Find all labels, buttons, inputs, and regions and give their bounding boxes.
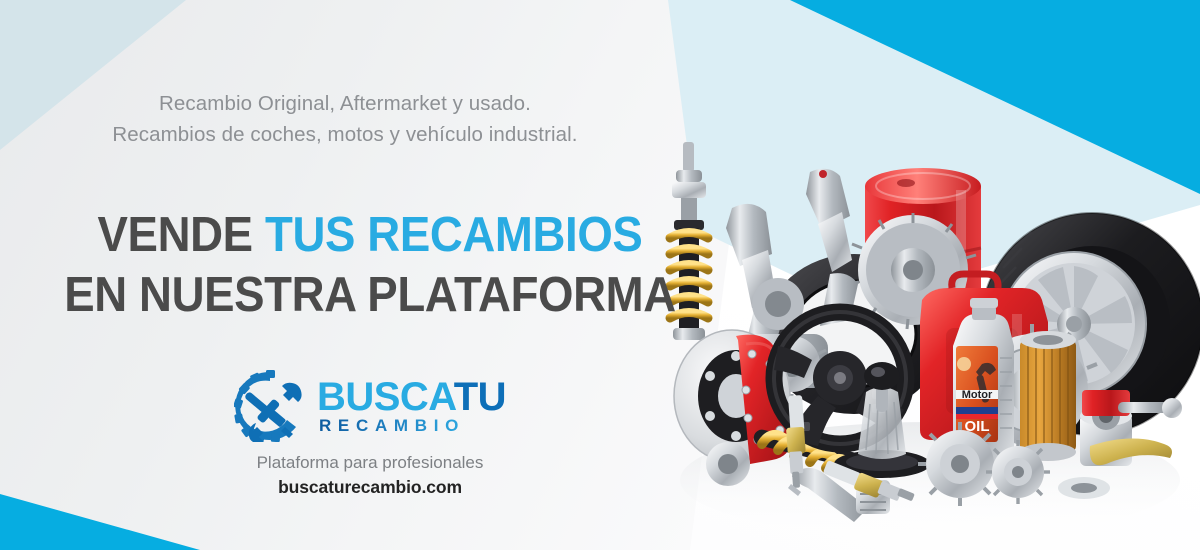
oil-label-line1: Motor — [962, 389, 993, 401]
auto-parts-collage: Motor OIL — [660, 128, 1200, 550]
headline-line-1-accent: TUS RECAMBIOS — [265, 208, 642, 262]
tagline-line-1: Recambio Original, Aftermarket y usado. — [0, 88, 690, 119]
logo-subtitle: Plataforma para profesionales — [257, 453, 484, 473]
clutch-gear-small — [918, 422, 1002, 506]
headline-line-2: EN NUESTRA PLATAFORMA — [26, 265, 714, 325]
logo-word-busca: BUSCA — [317, 375, 454, 419]
promo-banner: Motor OIL — [0, 0, 1200, 550]
copy-block: Recambio Original, Aftermarket y usado. … — [0, 0, 740, 550]
logo-word: BUSCATU — [317, 378, 506, 416]
clutch-gear-small-2 — [986, 440, 1050, 504]
logo-word-tu: TU — [454, 375, 506, 419]
page-title: VENDE TUS RECAMBIOS EN NUESTRA PLATAFORM… — [26, 205, 714, 325]
tagline: Recambio Original, Aftermarket y usado. … — [0, 88, 690, 150]
tagline-line-2: Recambios de coches, motos y vehículo in… — [0, 119, 690, 150]
logo-row: BUSCATU RECAMBIO — [234, 368, 506, 444]
logo-wordmark: BUSCATU RECAMBIO — [317, 378, 506, 435]
logo-word-recambio: RECAMBIO — [317, 416, 506, 435]
headline-line-1-plain: VENDE — [98, 208, 265, 262]
website-url[interactable]: buscaturecambio.com — [278, 477, 462, 498]
logo-lockup[interactable]: BUSCATU RECAMBIO Plataforma para profesi… — [0, 368, 740, 498]
bearing-ring — [1058, 477, 1110, 499]
oil-filter-cartridge — [1020, 331, 1076, 461]
gear-wrench-screwdriver-icon — [234, 370, 310, 442]
headline-line-1: VENDE TUS RECAMBIOS — [26, 205, 714, 265]
